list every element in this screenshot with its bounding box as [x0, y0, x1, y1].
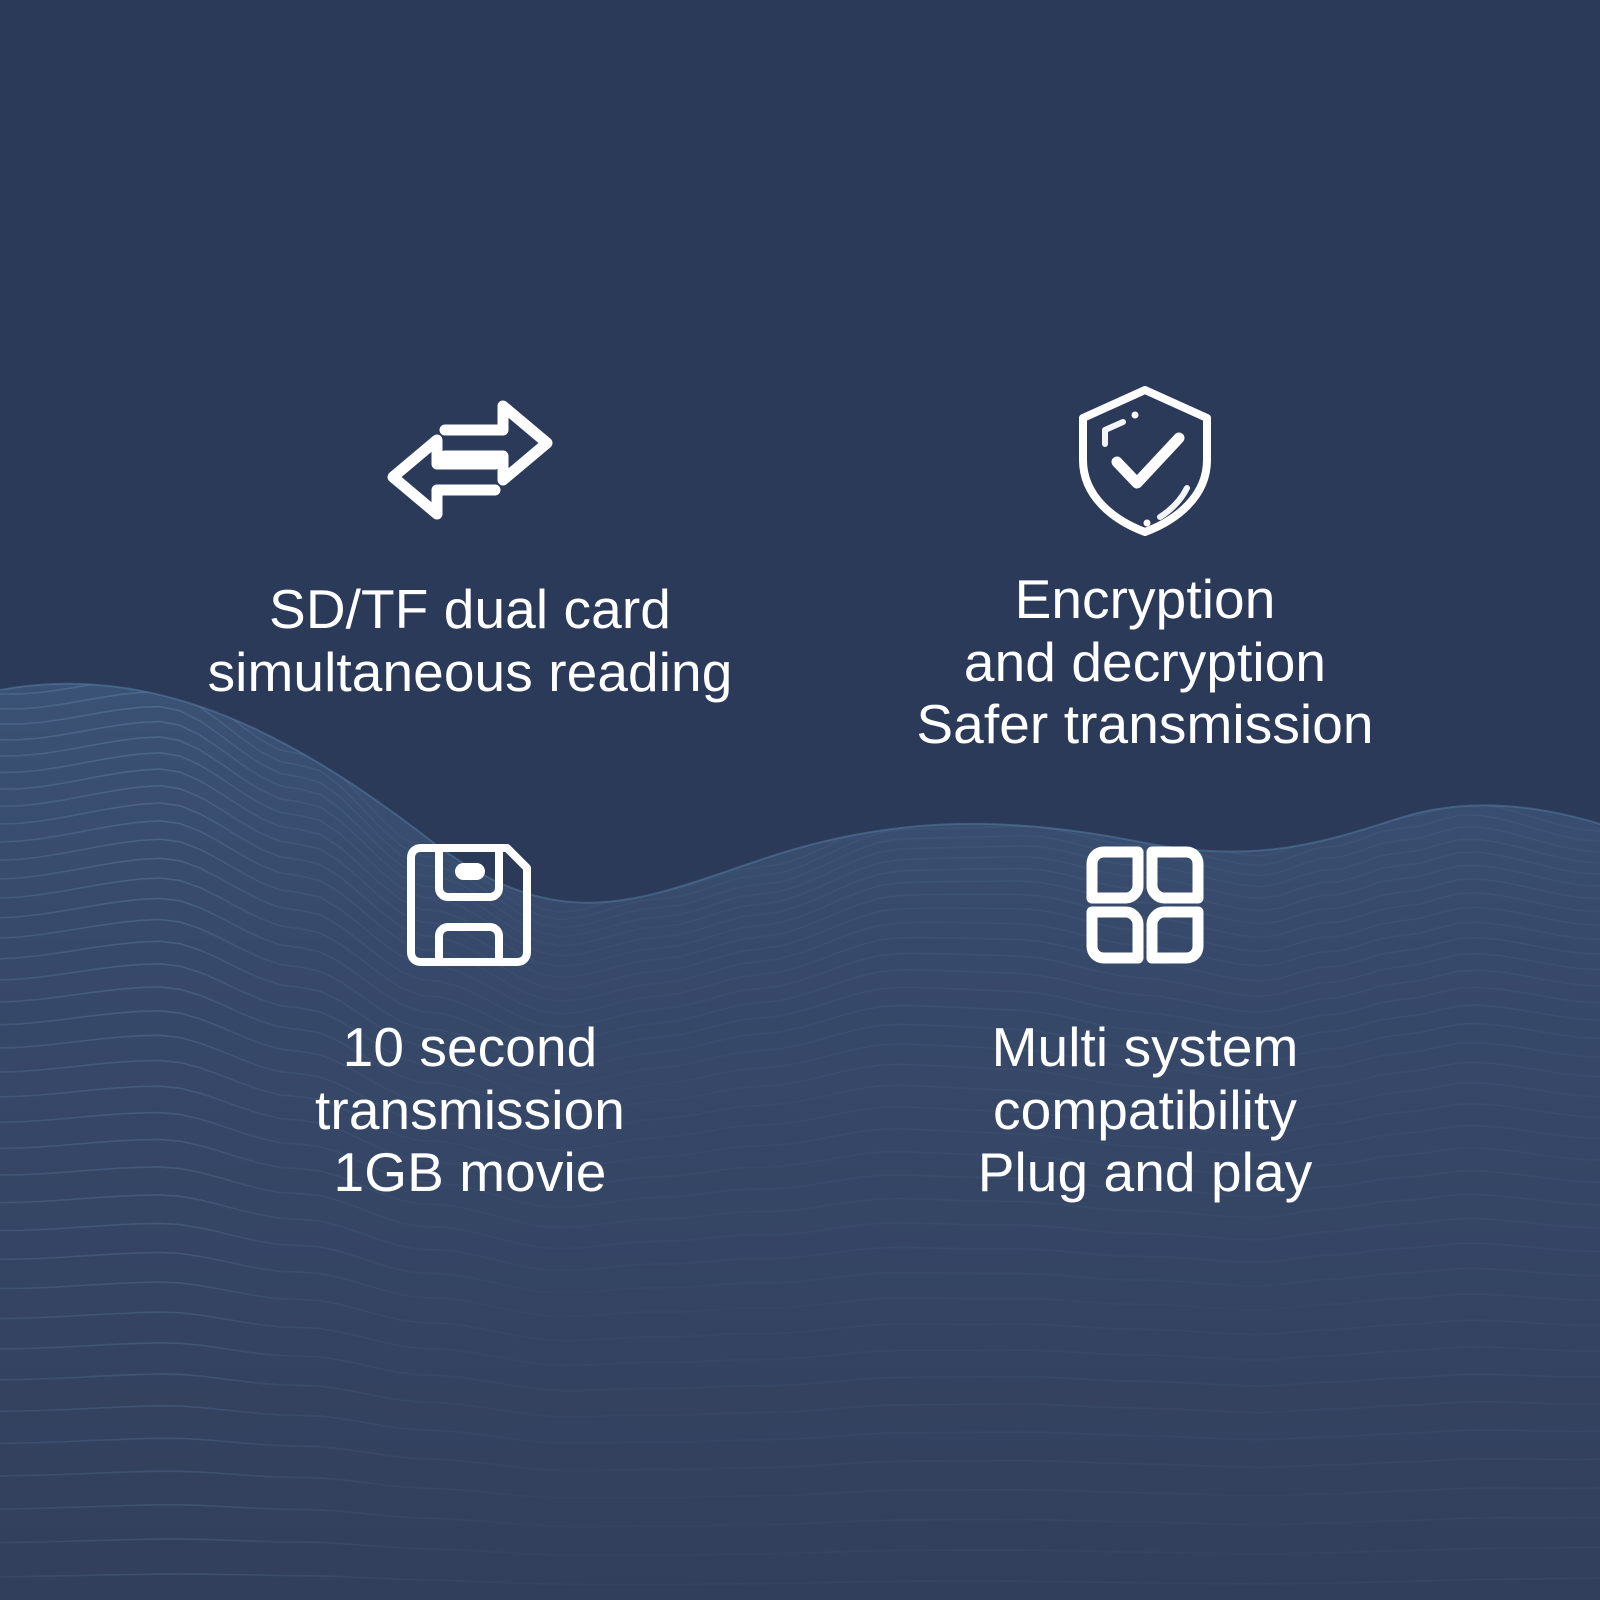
- feature-label-line: simultaneous reading: [208, 641, 733, 704]
- two-way-exchange-arrows-icon: [375, 380, 565, 540]
- four-petal-quadrants-icon: [1070, 830, 1220, 980]
- feature-label-encryption: Encryption and decryption Safer transmis…: [916, 568, 1373, 756]
- feature-label-line: SD/TF dual card: [208, 578, 733, 641]
- feature-banner: SD/TF dual card simultaneous reading: [0, 0, 1600, 1600]
- feature-label-line: 10 second: [315, 1016, 625, 1079]
- feature-label-dual-card: SD/TF dual card simultaneous reading: [208, 578, 733, 703]
- feature-label-line: Encryption: [916, 568, 1373, 631]
- feature-label-line: transmission: [315, 1079, 625, 1142]
- feature-label-line: Multi system: [978, 1016, 1313, 1079]
- feature-label-line: compatibility: [978, 1079, 1313, 1142]
- feature-label-transmission-speed: 10 second transmission 1GB movie: [315, 1016, 625, 1204]
- feature-label-line: and decryption: [916, 631, 1373, 694]
- floppy-disk-save-icon: [395, 830, 545, 980]
- feature-label-line: Safer transmission: [916, 693, 1373, 756]
- feature-grid: SD/TF dual card simultaneous reading: [0, 380, 1600, 1280]
- feature-label-compatibility: Multi system compatibility Plug and play: [978, 1016, 1313, 1204]
- shield-check-icon: [1065, 380, 1225, 540]
- feature-item-compatibility: Multi system compatibility Plug and play: [800, 830, 1600, 1280]
- feature-item-encryption: Encryption and decryption Safer transmis…: [800, 380, 1600, 830]
- feature-item-transmission-speed: 10 second transmission 1GB movie: [0, 830, 800, 1280]
- feature-label-line: 1GB movie: [315, 1141, 625, 1204]
- feature-item-dual-card: SD/TF dual card simultaneous reading: [0, 380, 800, 830]
- feature-label-line: Plug and play: [978, 1141, 1313, 1204]
